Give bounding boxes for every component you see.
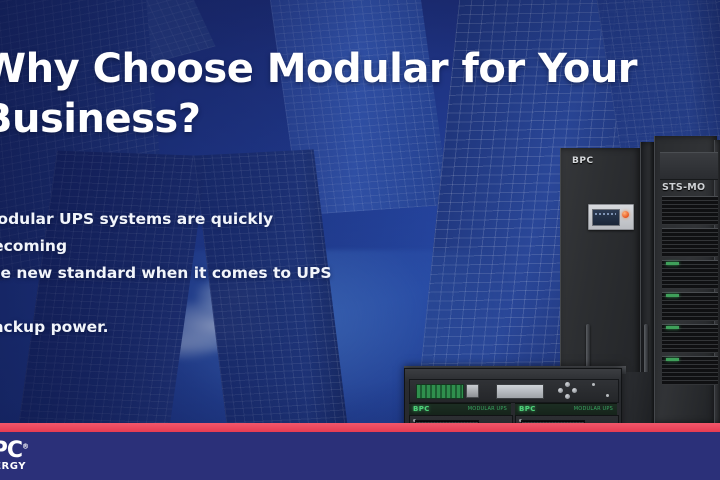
- cabinet-brand-logo: BPC: [572, 156, 594, 166]
- page-title: Why Choose Modular for Your Business?: [0, 44, 682, 144]
- nav-down-icon[interactable]: [565, 394, 570, 399]
- module-status-indicator: [666, 262, 679, 265]
- slide-canvas: Why Choose Modular for Your Business? Mo…: [0, 0, 720, 480]
- navigation-pad[interactable]: [558, 382, 578, 400]
- ethernet-port-icon: [466, 384, 479, 398]
- cabinet-lcd-panel: [588, 204, 634, 230]
- footer-bar: [0, 432, 720, 480]
- module-status-indicator: [666, 294, 679, 297]
- rack-brand-label: BPC: [413, 405, 430, 413]
- controller-display: [496, 384, 544, 399]
- nav-left-icon[interactable]: [558, 388, 563, 393]
- rack-brand-tag: MODULAR UPS: [468, 406, 507, 412]
- logo-subtext: ENERGY: [0, 461, 26, 472]
- nav-up-icon[interactable]: [565, 382, 570, 387]
- logo-mark-text: BPC: [0, 438, 22, 463]
- rack-brand-tag: MODULAR UPS: [574, 406, 613, 412]
- cabinet-model-label: STS-MO: [662, 182, 720, 193]
- logo-wordmark: BPC®: [0, 438, 28, 463]
- screw-icon: [592, 383, 595, 386]
- terminal-block-icon: [416, 384, 464, 399]
- subtitle-text: Modular UPS systems are quickly becoming…: [0, 206, 342, 341]
- cabinet-vent: [662, 196, 718, 225]
- registered-icon: ®: [22, 443, 28, 451]
- module-status-indicator: [666, 358, 679, 361]
- lcd-screen: [592, 209, 620, 226]
- nav-right-icon[interactable]: [572, 388, 577, 393]
- rack-controller-unit: [409, 379, 619, 403]
- module-status-indicator: [666, 326, 679, 329]
- accent-divider-bar: [0, 423, 720, 432]
- cabinet-vent: [662, 228, 718, 257]
- screw-icon: [606, 394, 609, 397]
- rack-brand-label: BPC: [519, 405, 536, 413]
- status-led-icon: [622, 211, 629, 218]
- brand-logo: BPC® ENERGY: [0, 436, 40, 478]
- cabinet-top-panel: [660, 152, 718, 180]
